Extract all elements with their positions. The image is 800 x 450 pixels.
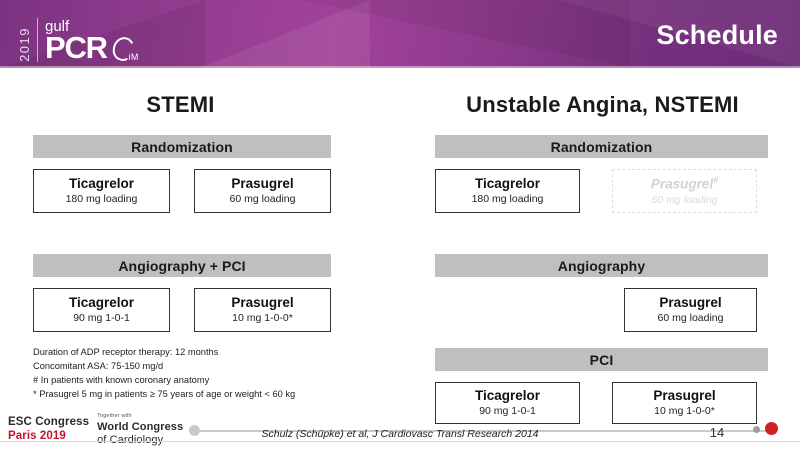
section-bar-randomization-stemi: Randomization bbox=[33, 135, 331, 158]
section-bar-angiography-pci-stemi: Angiography + PCI bbox=[33, 254, 331, 277]
gulf-pcr-logo: 2019 gulf PCR iM bbox=[18, 8, 137, 62]
drug-name: Ticagrelor bbox=[475, 176, 540, 192]
drug-dose: 60 mg loading bbox=[658, 312, 724, 325]
drug-name: Prasugrel# bbox=[651, 175, 718, 192]
treatment-box-ticagrelor-stemi-rand[interactable]: Ticagrelor 180 mg loading bbox=[33, 169, 170, 213]
treatment-box-ticagrelor-ua-pci[interactable]: Ticagrelor 90 mg 1-0-1 bbox=[435, 382, 580, 424]
logo-wordmark: gulf PCR iM bbox=[45, 19, 137, 62]
slide: 2019 gulf PCR iM Schedule STEMI Randomiz… bbox=[0, 0, 800, 450]
drug-name: Prasugrel bbox=[231, 176, 293, 192]
drug-dose: 180 mg loading bbox=[472, 193, 544, 206]
header-underline bbox=[0, 66, 800, 68]
footnote-duration: Duration of ADP receptor therapy: 12 mon… bbox=[33, 345, 363, 359]
drug-name: Prasugrel bbox=[653, 388, 715, 404]
treatment-box-prasugrel-ua-pci[interactable]: Prasugrel 10 mg 1-0-0* bbox=[612, 382, 757, 424]
logo-year: 2019 bbox=[18, 26, 31, 62]
page-title: Schedule bbox=[656, 20, 778, 51]
column-title-ua-nstemi: Unstable Angina, NSTEMI bbox=[430, 92, 775, 118]
drug-dose: 90 mg 1-0-1 bbox=[73, 312, 130, 325]
drug-name: Prasugrel bbox=[231, 295, 293, 311]
drug-name: Ticagrelor bbox=[475, 388, 540, 404]
treatment-box-prasugrel-ua-angio[interactable]: Prasugrel 60 mg loading bbox=[624, 288, 757, 332]
treatment-box-ticagrelor-stemi-pci[interactable]: Ticagrelor 90 mg 1-0-1 bbox=[33, 288, 170, 332]
drug-label: Prasugrel bbox=[651, 177, 713, 192]
footnote-asa: Concomitant ASA: 75-150 mg/d bbox=[33, 359, 363, 373]
drug-dose: 10 mg 1-0-0* bbox=[654, 405, 715, 418]
drug-name: Prasugrel bbox=[659, 295, 721, 311]
logo-heart-icon: iM bbox=[111, 36, 137, 62]
treatment-box-ticagrelor-ua-rand[interactable]: Ticagrelor 180 mg loading bbox=[435, 169, 580, 213]
citation-text: Schulz (Schüpke) et al, J Cardiovasc Tra… bbox=[0, 428, 800, 440]
drug-dose: 60 mg loading bbox=[230, 193, 296, 206]
drug-footnote-marker: # bbox=[713, 175, 718, 185]
section-bar-pci-ua: PCI bbox=[435, 348, 768, 371]
footer-bottom-rule bbox=[0, 441, 800, 442]
footnotes: Duration of ADP receptor therapy: 12 mon… bbox=[33, 345, 363, 402]
page-number: 14 bbox=[700, 425, 734, 440]
logo-pcr-text: PCR bbox=[45, 35, 107, 62]
section-bar-angiography-ua: Angiography bbox=[435, 254, 768, 277]
drug-dose: 180 mg loading bbox=[66, 193, 138, 206]
treatment-box-prasugrel-stemi-rand[interactable]: Prasugrel 60 mg loading bbox=[194, 169, 331, 213]
treatment-box-prasugrel-ua-rand-disabled: Prasugrel# 60 mg loading bbox=[612, 169, 757, 213]
drug-name: Ticagrelor bbox=[69, 176, 134, 192]
logo-divider bbox=[37, 18, 38, 62]
logo-im-text: iM bbox=[128, 53, 139, 62]
drug-name: Ticagrelor bbox=[69, 295, 134, 311]
slide-header: 2019 gulf PCR iM Schedule bbox=[0, 0, 800, 68]
drug-dose: 60 mg loading bbox=[652, 194, 718, 207]
together-with-text: Together with bbox=[97, 413, 132, 420]
treatment-box-prasugrel-stemi-pci[interactable]: Prasugrel 10 mg 1-0-0* bbox=[194, 288, 331, 332]
footnote-hash: # In patients with known coronary anatom… bbox=[33, 373, 363, 387]
column-title-stemi: STEMI bbox=[28, 92, 333, 118]
section-bar-randomization-ua: Randomization bbox=[435, 135, 768, 158]
footnote-asterisk: * Prasugrel 5 mg in patients ≥ 75 years … bbox=[33, 387, 363, 401]
drug-dose: 90 mg 1-0-1 bbox=[479, 405, 536, 418]
drug-dose: 10 mg 1-0-0* bbox=[232, 312, 293, 325]
